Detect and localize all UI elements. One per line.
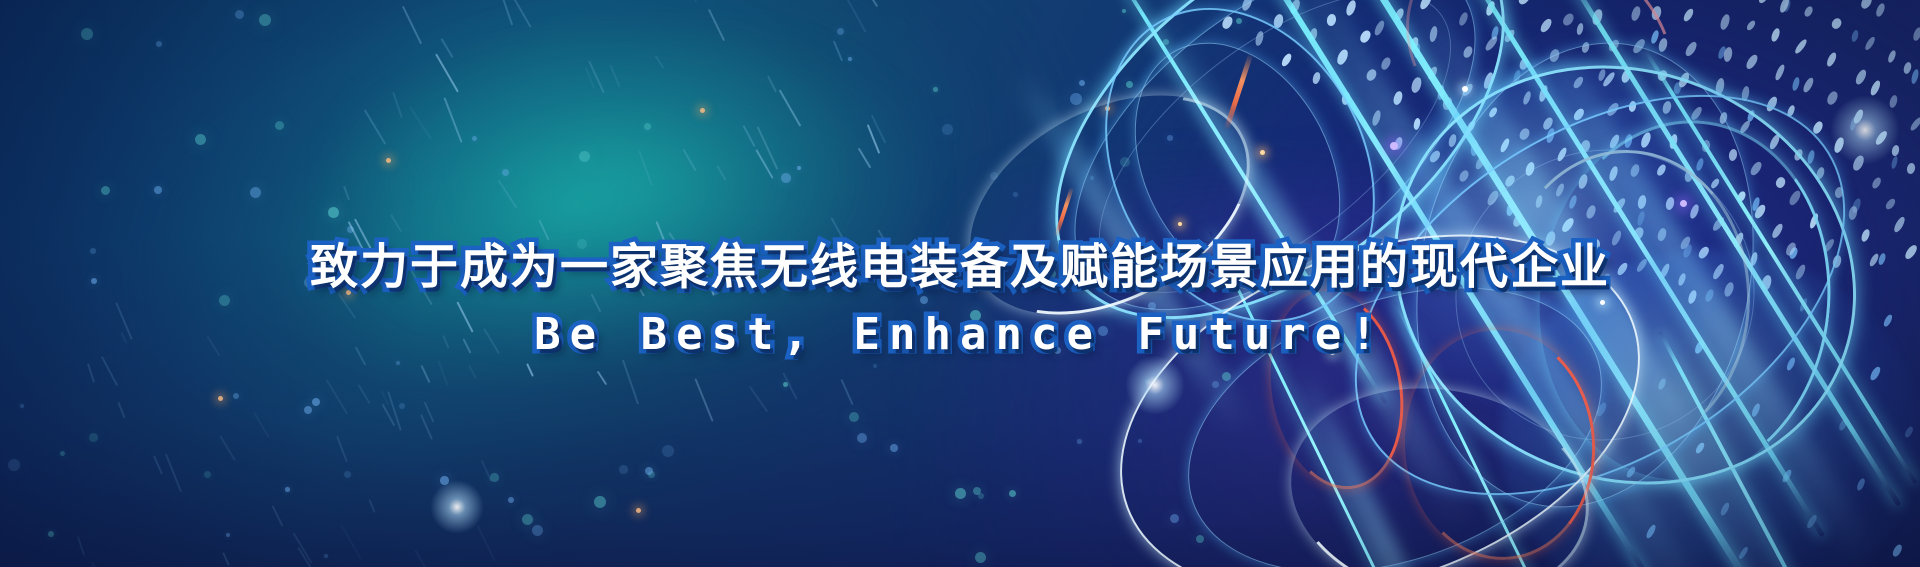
banner-text-block: 致力于成为一家聚焦无线电装备及赋能场景应用的现代企业 Be Best, Enha…: [0, 238, 1920, 366]
hero-banner: 致力于成为一家聚焦无线电装备及赋能场景应用的现代企业 Be Best, Enha…: [0, 0, 1920, 567]
headline-english: Be Best, Enhance Future!: [0, 304, 1920, 366]
headline-chinese: 致力于成为一家聚焦无线电装备及赋能场景应用的现代企业: [0, 238, 1920, 296]
